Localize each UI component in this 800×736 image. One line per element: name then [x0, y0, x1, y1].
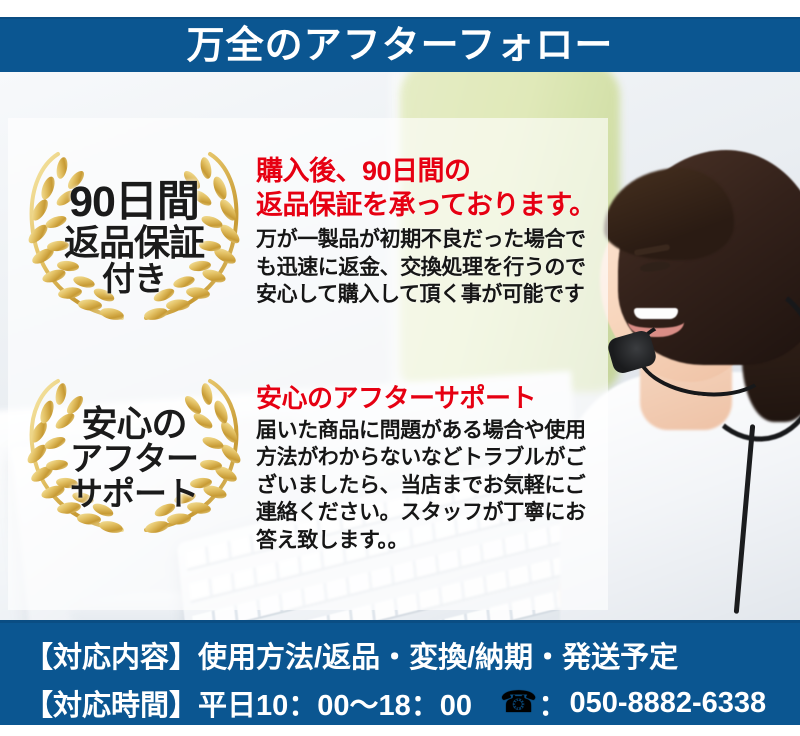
headline-line: 安心のアフターサポート	[256, 382, 644, 415]
body-line: 方法がわからないなどトラブルがご	[256, 444, 644, 472]
support-text-column: 安心のアフターサポート 届いた商品に問題がある場合や使用 方法がわからないなどト…	[250, 378, 644, 554]
support-scope-label: 【対応内容】	[24, 634, 198, 676]
support-headline: 安心のアフターサポート	[256, 382, 644, 415]
support-hours-row: 【対応時間】 平日10：00〜18：00 ☎ ： 050-8882-6338	[0, 683, 800, 723]
telephone-icon: ☎	[500, 688, 537, 718]
phone-number[interactable]: 050-8882-6338	[569, 687, 766, 720]
footer-bar: 【対応内容】 使用方法/返品・変換/納期・発送予定 【対応時間】 平日10：00…	[0, 620, 800, 725]
guarantee-block: 90日間 返品保証 付き 購入後、90日間の 返品保証を承っております。 万が一…	[18, 150, 644, 326]
support-scope-value: 使用方法/返品・変換/納期・発送予定	[198, 634, 678, 676]
guarantee-body: 万が一製品が初期不良だった場合で も迅速に返金、交換処理を行うので 安心して購入…	[256, 226, 644, 309]
headline-line: 購入後、90日間の	[256, 154, 644, 188]
header-bar: 万全のアフターフォロー	[0, 17, 800, 72]
body-line: 万が一製品が初期不良だった場合で	[256, 226, 644, 254]
support-hours-value: 平日10：00〜18：00	[198, 682, 472, 724]
badge-label: 安心の アフター サポート	[70, 405, 198, 511]
badge-line: 返品保証	[64, 224, 204, 261]
page-title: 万全のアフターフォロー	[187, 27, 614, 65]
body-line: 安心して購入して頂く事が可能です	[256, 281, 644, 309]
phone-separator: ：	[538, 682, 567, 724]
badge-line: アフター	[70, 442, 198, 476]
support-scope-row: 【対応内容】 使用方法/返品・変換/納期・発送予定	[0, 635, 800, 675]
badge-90-day-return-guarantee: 90日間 返品保証 付き	[18, 150, 250, 326]
badge-line: 付き	[64, 262, 204, 296]
support-body: 届いた商品に問題がある場合や使用 方法がわからないなどトラブルがご ざいましたら…	[256, 417, 644, 555]
body-line: 答え致します。。	[256, 527, 644, 555]
body-line: も迅速に返金、交換処理を行うので	[256, 254, 644, 282]
support-block: 安心の アフター サポート 安心のアフターサポート 届いた商品に問題がある場合や…	[18, 378, 644, 554]
after-follow-banner: 万全のアフターフォロー	[0, 0, 800, 736]
badge-line: 90日間	[64, 180, 204, 225]
badge-line: 安心の	[70, 405, 198, 442]
guarantee-headline: 購入後、90日間の 返品保証を承っております。	[256, 154, 644, 222]
badge-after-support: 安心の アフター サポート	[18, 378, 250, 538]
support-hours-label: 【対応時間】	[24, 682, 198, 724]
guarantee-text-column: 購入後、90日間の 返品保証を承っております。 万が一製品が初期不良だった場合で…	[250, 150, 644, 309]
body-line: ざいましたら、当店までお気軽にご	[256, 472, 644, 500]
body-line: 届いた商品に問題がある場合や使用	[256, 417, 644, 445]
body-line: 連絡ください。スタッフが丁寧にお	[256, 499, 644, 527]
badge-line: サポート	[70, 477, 198, 511]
headline-line: 返品保証を承っております。	[256, 188, 644, 222]
badge-label: 90日間 返品保証 付き	[64, 180, 204, 296]
